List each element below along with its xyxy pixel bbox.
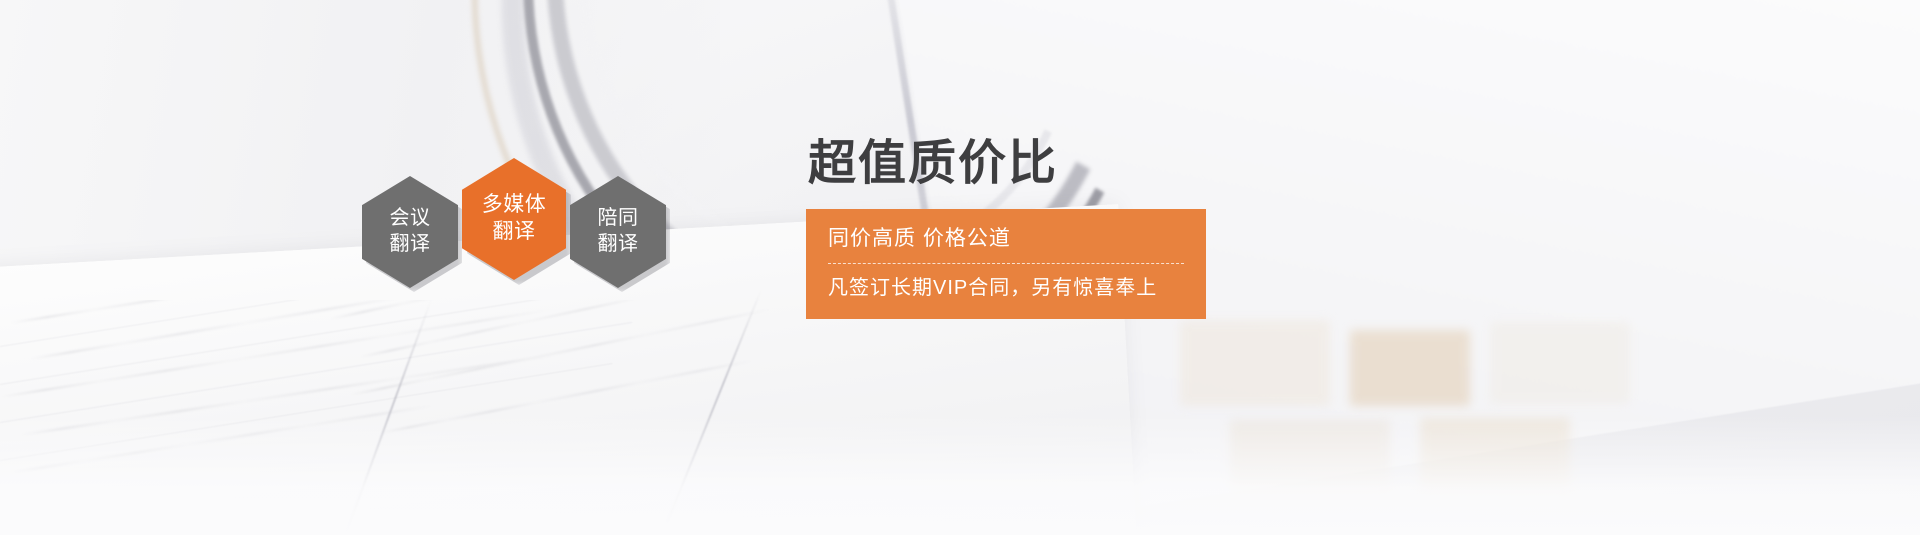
promo-box: 同价高质 价格公道 凡签订长期VIP合同，另有惊喜奉上	[806, 209, 1206, 320]
service-hexagon-group: 会议 翻译 陪同 翻译 多媒体 翻译	[362, 158, 722, 290]
background-bottom-fade	[0, 415, 1920, 535]
background-plate-3	[1490, 322, 1630, 404]
promo-line-2: 凡签订长期VIP合同，另有惊喜奉上	[806, 273, 1206, 303]
hexagon-multimedia-line2: 翻译	[493, 219, 536, 246]
hexagon-escort-line1: 陪同	[598, 206, 639, 232]
background-plate-1	[1180, 320, 1330, 406]
promo-banner: 会议 翻译 陪同 翻译 多媒体 翻译 超值质价比 同价高质 价格公道 凡签订长期…	[0, 0, 1920, 535]
promo-line-1: 同价高质 价格公道	[806, 223, 1206, 255]
promo-divider	[828, 263, 1184, 264]
background-plate-2	[1350, 330, 1470, 406]
hexagon-conference-line2: 翻译	[390, 232, 431, 258]
hexagon-conference-line1: 会议	[390, 206, 431, 232]
hexagon-multimedia-line1: 多媒体	[482, 192, 547, 219]
banner-copy-block: 超值质价比 同价高质 价格公道 凡签订长期VIP合同，另有惊喜奉上	[806, 138, 1326, 319]
hexagon-escort-line2: 翻译	[598, 232, 639, 258]
banner-headline: 超值质价比	[808, 138, 1326, 191]
